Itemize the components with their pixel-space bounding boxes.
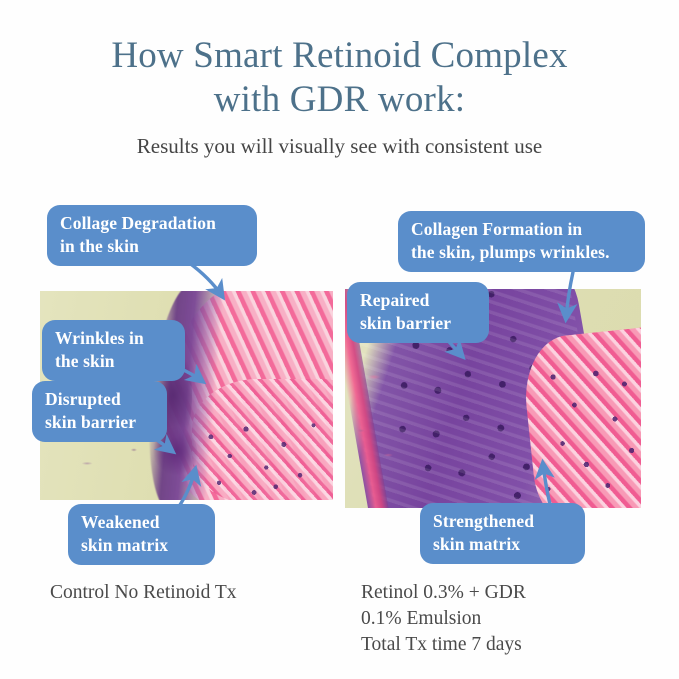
callout-disrupted-barrier[interactable]: Disrupted skin barrier: [32, 381, 167, 442]
tissue-debris: [348, 355, 413, 478]
callout-weakened-matrix[interactable]: Weakened skin matrix: [68, 504, 215, 565]
control-caption: Control No Retinoid Tx: [50, 580, 237, 606]
callout-collagen-degradation[interactable]: Collage Degradation in the skin: [47, 205, 257, 266]
page-title-line-1: How Smart Retinoid Complex: [0, 34, 679, 78]
page-subtitle: Results you will visually see with consi…: [0, 131, 679, 161]
cell-nuclei: [192, 408, 327, 500]
dermis-cell-nuclei: [534, 342, 641, 508]
callout-collagen-formation[interactable]: Collagen Formation in the skin, plumps w…: [398, 211, 645, 272]
header: How Smart Retinoid Complex with GDR work…: [0, 34, 679, 161]
callout-wrinkles[interactable]: Wrinkles in the skin: [42, 320, 185, 381]
treated-caption: Retinol 0.3% + GDR 0.1% Emulsion Total T…: [361, 580, 526, 658]
callout-repaired-barrier[interactable]: Repaired skin barrier: [347, 282, 489, 343]
callout-strengthened-matrix[interactable]: Strengthened skin matrix: [420, 503, 585, 564]
retinoid-infographic: How Smart Retinoid Complex with GDR work…: [0, 0, 679, 679]
page-title-line-2: with GDR work:: [0, 78, 679, 122]
